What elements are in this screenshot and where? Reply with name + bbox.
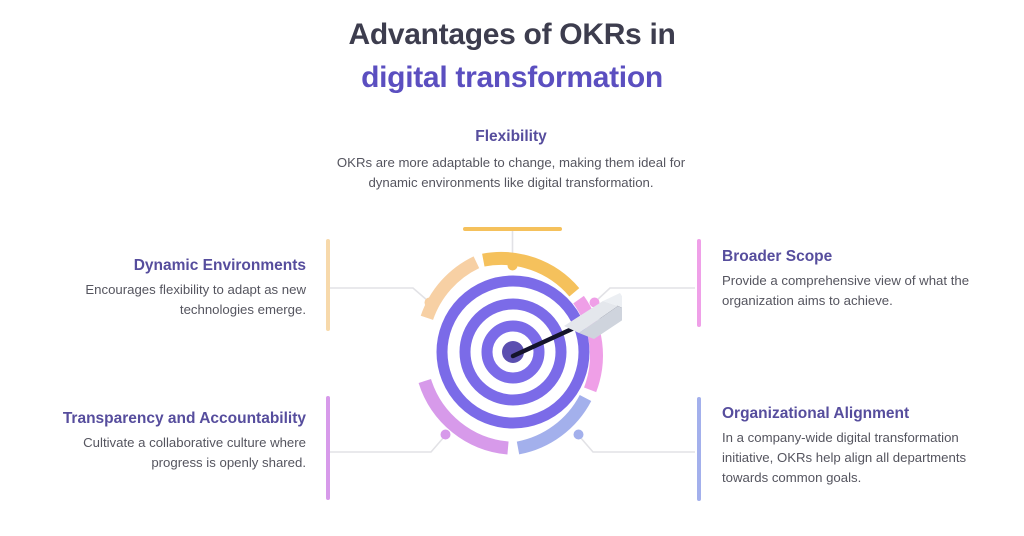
accent-bar-flexibility xyxy=(463,227,562,231)
item-transparency-accountability-heading: Transparency and Accountability xyxy=(30,408,306,430)
accent-bar-dynamic xyxy=(326,239,330,331)
item-dynamic-environments: Dynamic Environments Encourages flexibil… xyxy=(30,255,306,320)
accent-bar-organizational xyxy=(697,397,701,501)
item-organizational-alignment: Organizational Alignment In a company-wi… xyxy=(722,403,990,488)
item-flexibility-body: OKRs are more adaptable to change, makin… xyxy=(325,153,697,193)
title-line-primary: Advantages of OKRs in xyxy=(262,14,762,57)
page-title: Advantages of OKRs in digital transforma… xyxy=(262,14,762,99)
accent-bar-transparency xyxy=(326,396,330,500)
title-line-accent: digital transformation xyxy=(262,57,762,100)
item-broader-scope: Broader Scope Provide a comprehensive vi… xyxy=(722,246,990,311)
item-transparency-accountability-body: Cultivate a collaborative culture where … xyxy=(30,433,306,473)
item-dynamic-environments-heading: Dynamic Environments xyxy=(30,255,306,277)
item-flexibility-heading: Flexibility xyxy=(325,126,697,148)
item-broader-scope-heading: Broader Scope xyxy=(722,246,990,268)
item-organizational-alignment-body: In a company-wide digital transformation… xyxy=(722,428,990,488)
item-dynamic-environments-body: Encourages flexibility to adapt as new t… xyxy=(30,280,306,320)
target-bullseye-icon xyxy=(404,243,622,461)
accent-bar-broader xyxy=(697,239,701,327)
infographic-root: Advantages of OKRs in digital transforma… xyxy=(0,0,1024,536)
item-transparency-accountability: Transparency and Accountability Cultivat… xyxy=(30,408,306,473)
item-broader-scope-body: Provide a comprehensive view of what the… xyxy=(722,271,990,311)
item-organizational-alignment-heading: Organizational Alignment xyxy=(722,403,990,425)
item-flexibility: Flexibility OKRs are more adaptable to c… xyxy=(325,126,697,193)
